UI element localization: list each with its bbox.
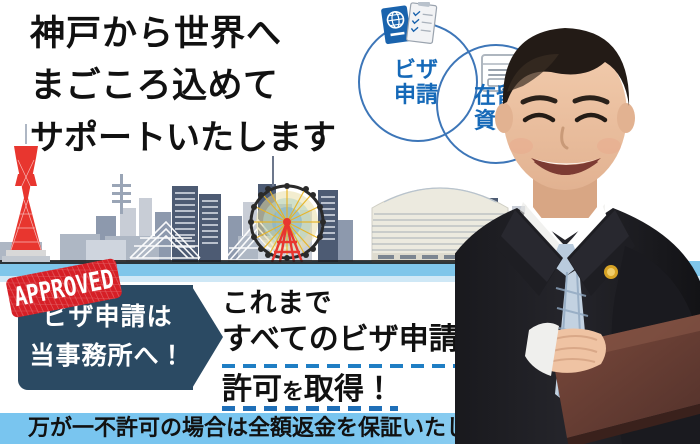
- achievement-line-3-main: 許可: [222, 372, 282, 407]
- headline: 神戸から世界へ まごころ込めて サポートいたします: [30, 8, 410, 164]
- headline-line-2: まごころ込めて: [30, 60, 410, 112]
- achievement-line-3-particle: を: [282, 380, 304, 405]
- arrow-banner-line-2: 当事務所へ！: [20, 336, 195, 375]
- avatar-administrative-scrivener: [455, 0, 700, 444]
- kobe-visa-promo-banner: 神戸から世界へ まごころ込めて サポートいたします: [0, 0, 700, 444]
- headline-line-1: 神戸から世界へ: [30, 8, 410, 60]
- achievement-line-3-tail: 取得！: [304, 372, 394, 407]
- achievement-line-2-main: すべてのビザ申請: [222, 322, 459, 357]
- guarantee-bar-text: 万が一不許可の場合は全額返金を保証いたします: [28, 416, 512, 441]
- ferris-wheel: [248, 183, 326, 262]
- bottom-bar-dashed-divider: [222, 406, 398, 411]
- headline-line-3: サポートいたします: [30, 112, 410, 164]
- arrow-banner-point: [191, 285, 223, 390]
